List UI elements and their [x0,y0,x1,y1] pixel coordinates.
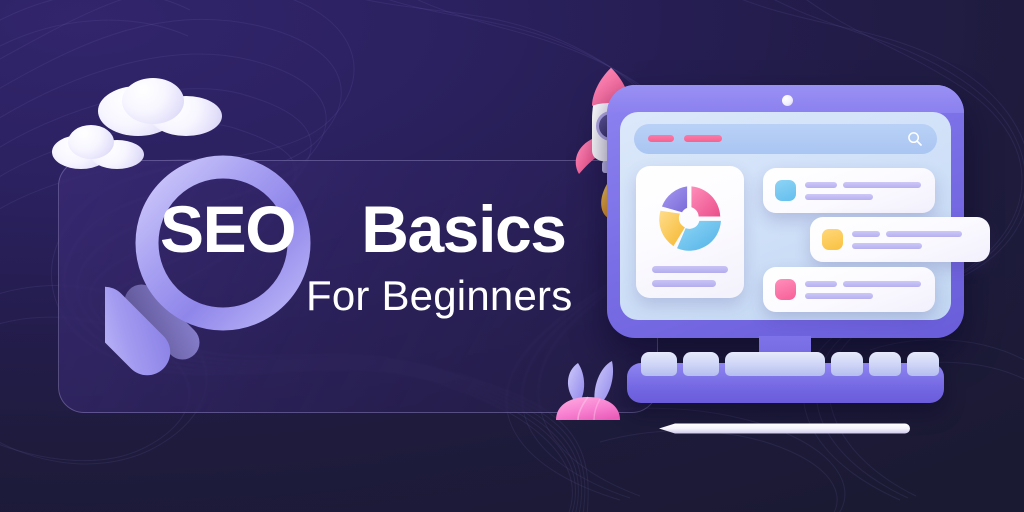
title-seo: SEO [160,192,295,266]
monitor-frame [607,85,964,338]
keyboard-key[interactable] [831,352,863,376]
chip-yellow-icon [822,229,843,250]
page-title: SEOBasics [160,196,630,262]
chart-panel [636,166,744,298]
row-line [843,182,921,188]
cloud-large [98,78,222,136]
list-card-pink[interactable] [763,267,935,312]
list-card-blue[interactable] [763,168,935,213]
keyboard-key[interactable] [641,352,677,376]
search-dash-2 [684,135,722,142]
keyboard[interactable] [627,363,944,403]
stylus-icon [659,422,912,435]
list-card-yellow[interactable] [810,217,990,262]
row-line [805,293,873,299]
page-subtitle: For Beginners [306,275,630,317]
keyboard-key[interactable] [683,352,719,376]
row-line [805,281,837,287]
title-basics: Basics [361,192,565,266]
row-line [805,194,873,200]
keyboard-key[interactable] [869,352,901,376]
row-line [843,281,921,287]
chip-pink-icon [775,279,796,300]
keyboard-key[interactable] [907,352,939,376]
chip-blue-icon [775,180,796,201]
webcam-dot [782,95,793,106]
monitor-screen [620,112,951,320]
seo-banner: SEOBasics For Beginners [0,0,1024,512]
search-bar[interactable] [634,124,937,154]
chart-caption-line-1 [652,266,728,273]
row-line [805,182,837,188]
monitor-illustration [607,85,964,420]
keyboard-key-space[interactable] [725,352,825,376]
headline-group: SEOBasics For Beginners [160,196,630,317]
plant-decoration [548,353,630,420]
row-line [886,231,962,237]
search-dash-1 [648,135,674,142]
search-icon[interactable] [907,131,923,147]
row-line [852,243,922,249]
donut-chart [654,182,726,254]
row-line [852,231,880,237]
chart-caption-line-2 [652,280,716,287]
